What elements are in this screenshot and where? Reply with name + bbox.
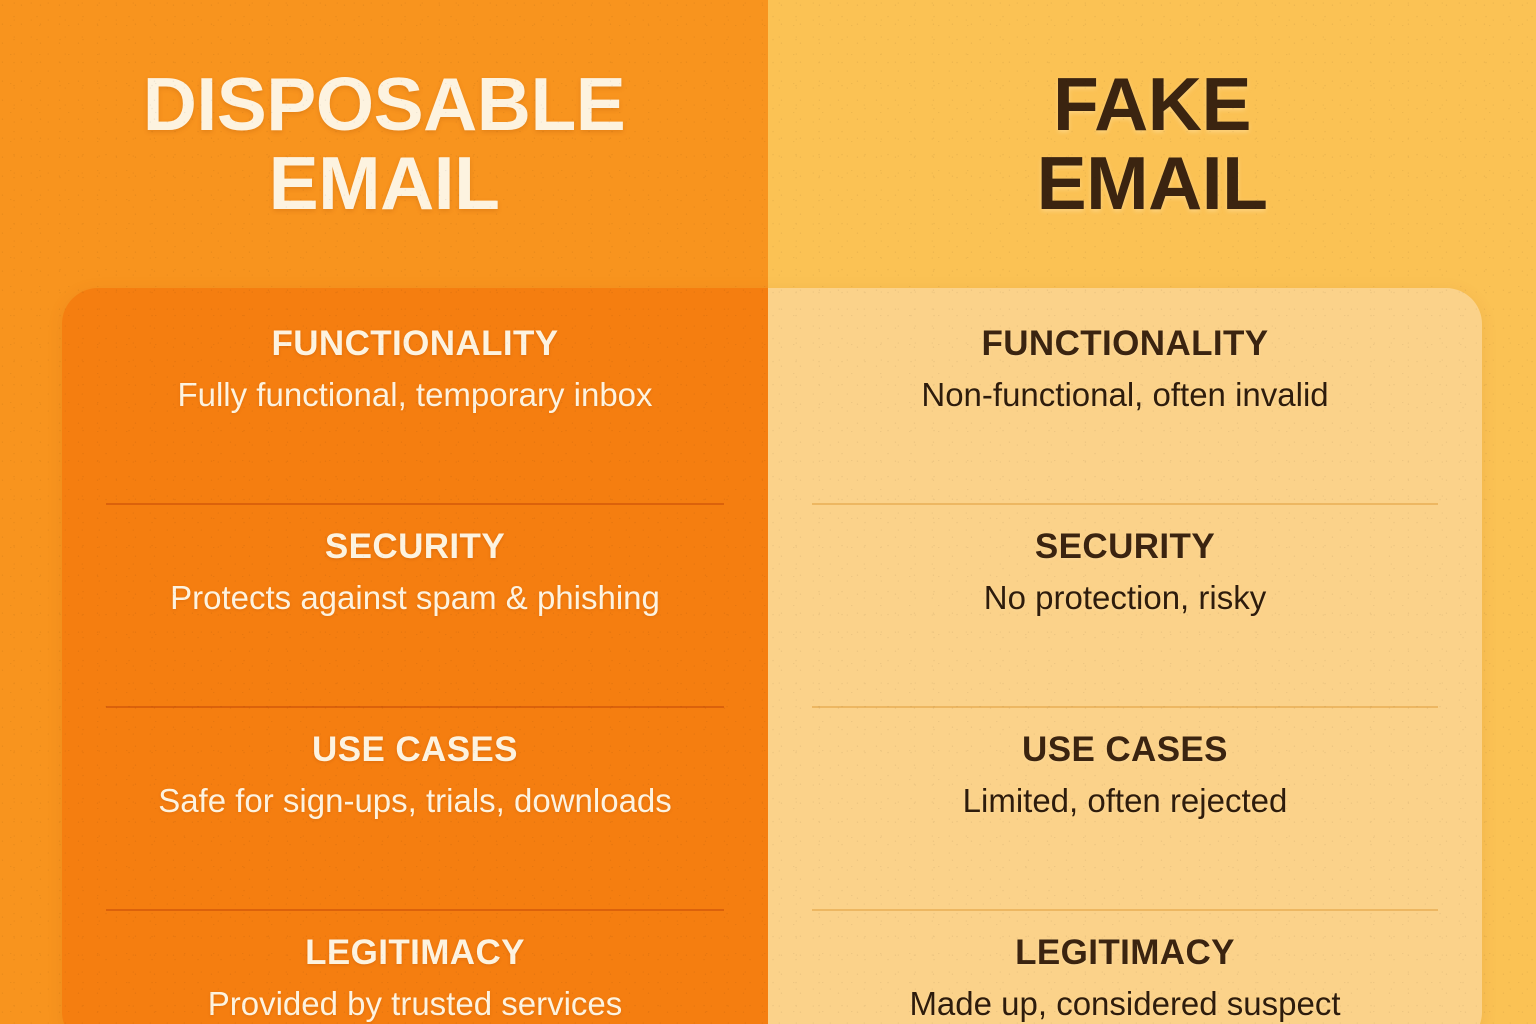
row-description: Safe for sign-ups, trials, downloads [158,780,672,822]
disposable-email-column: FUNCTIONALITY Fully functional, temporar… [62,288,768,1024]
row-title: FUNCTIONALITY [271,324,558,364]
row-title: FUNCTIONALITY [981,324,1268,364]
comparison-card: FUNCTIONALITY Fully functional, temporar… [62,288,1482,1024]
row-title: SECURITY [1035,527,1215,567]
row-title: USE CASES [1022,730,1228,770]
right-column-header: FAKE EMAIL [768,0,1536,288]
row-description: Limited, often rejected [963,780,1288,822]
right-column-title: FAKE EMAIL [1037,65,1268,224]
row-description: Made up, considered suspect [909,983,1340,1024]
left-column-header: DISPOSABLE EMAIL [0,0,768,288]
row-description: Non-functional, often invalid [921,374,1328,416]
row-description: Protects against spam & phishing [170,577,660,619]
row-title: LEGITIMACY [1015,933,1235,973]
table-row: USE CASES Safe for sign-ups, trials, dow… [62,706,768,909]
table-row: SECURITY Protects against spam & phishin… [62,503,768,706]
left-title-line-2: EMAIL [269,141,500,225]
table-row: FUNCTIONALITY Fully functional, temporar… [62,300,768,503]
left-column-title: DISPOSABLE EMAIL [143,65,626,224]
row-description: Fully functional, temporary inbox [177,374,652,416]
row-title: USE CASES [312,730,518,770]
left-title-line-1: DISPOSABLE [143,62,626,146]
row-title: LEGITIMACY [305,933,525,973]
table-row: USE CASES Limited, often rejected [768,706,1482,909]
fake-email-column: FUNCTIONALITY Non-functional, often inva… [768,288,1482,1024]
table-row: FUNCTIONALITY Non-functional, often inva… [768,300,1482,503]
table-row: SECURITY No protection, risky [768,503,1482,706]
comparison-infographic: DISPOSABLE EMAIL FAKE EMAIL FUNCTIONALIT… [0,0,1536,1024]
right-title-line-2: EMAIL [1037,141,1268,225]
row-description: Provided by trusted services [208,983,623,1024]
row-title: SECURITY [325,527,505,567]
row-description: No protection, risky [984,577,1266,619]
right-title-line-1: FAKE [1053,62,1251,146]
table-row: LEGITIMACY Made up, considered suspect [768,909,1482,1024]
table-row: LEGITIMACY Provided by trusted services [62,909,768,1024]
